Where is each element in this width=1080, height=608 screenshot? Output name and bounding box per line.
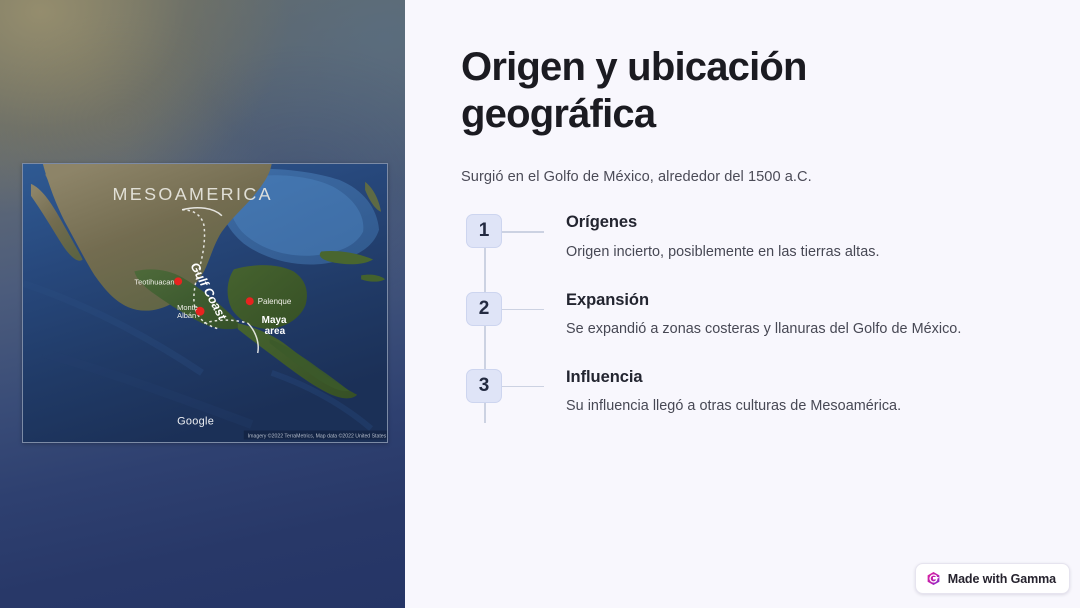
page-subtitle: Surgió en el Golfo de México, alrededor …: [461, 167, 1024, 189]
map-label-mesoamerica: MESOAMERICA: [113, 184, 273, 204]
map-attribution-text: Imagery ©2022 TerraMetrics, Map data ©20…: [248, 432, 387, 439]
timeline-item[interactable]: 2 Expansión Se expandió a zonas costeras…: [461, 290, 1024, 340]
made-with-gamma-label: Made with Gamma: [948, 572, 1056, 586]
map-label-maya-area-2: area: [265, 326, 286, 337]
timeline-item-body: Expansión Se expandió a zonas costeras y…: [544, 290, 964, 340]
timeline-item[interactable]: 1 Orígenes Origen incierto, posiblemente…: [461, 212, 1024, 262]
map-label-teotihuacan: Teotihuacan: [134, 277, 174, 286]
timeline-list: 1 Orígenes Origen incierto, posiblemente…: [461, 212, 1024, 416]
timeline-item-body: Orígenes Origen incierto, posiblemente e…: [544, 212, 964, 262]
made-with-gamma-badge[interactable]: Made with Gamma: [915, 563, 1070, 594]
timeline-step-number: 2: [466, 292, 502, 326]
map-google-wordmark: Google: [177, 416, 214, 428]
timeline-connector: [502, 386, 544, 388]
timeline-connector: [502, 231, 544, 233]
page-title: Origen y ubicación geográfica: [461, 44, 881, 138]
left-image-panel: MESOAMERICA Gulf Coast Teotihuacan Monte…: [0, 0, 405, 608]
timeline-item-heading: Expansión: [566, 290, 964, 311]
gamma-logo-icon: [926, 571, 941, 586]
timeline-step-number: 1: [466, 214, 502, 248]
slide: MESOAMERICA Gulf Coast Teotihuacan Monte…: [0, 0, 1080, 608]
map-label-palenque: Palenque: [258, 297, 292, 306]
map-marker-teotihuacan[interactable]: [174, 277, 182, 285]
map-marker-palenque[interactable]: [246, 297, 254, 305]
map-label-maya-area-1: Maya: [262, 315, 287, 326]
timeline-item-description: Origen incierto, posiblemente en las tie…: [566, 242, 964, 262]
timeline-item-body: Influencia Su influencia llegó a otras c…: [544, 367, 964, 417]
mesoamerica-map[interactable]: MESOAMERICA Gulf Coast Teotihuacan Monte…: [22, 163, 388, 443]
map-canvas: MESOAMERICA Gulf Coast Teotihuacan Monte…: [23, 164, 387, 442]
timeline-item-heading: Orígenes: [566, 212, 964, 233]
map-label-monte-alban-2: Albán: [177, 311, 196, 320]
timeline-step-number: 3: [466, 369, 502, 403]
timeline-item-description: Su influencia llegó a otras culturas de …: [566, 396, 964, 416]
timeline-item-heading: Influencia: [566, 367, 964, 388]
timeline-connector: [502, 309, 544, 311]
timeline-item[interactable]: 3 Influencia Su influencia llegó a otras…: [461, 367, 1024, 417]
timeline-item-description: Se expandió a zonas costeras y llanuras …: [566, 319, 964, 339]
right-content-panel: Origen y ubicación geográfica Surgió en …: [405, 0, 1080, 608]
